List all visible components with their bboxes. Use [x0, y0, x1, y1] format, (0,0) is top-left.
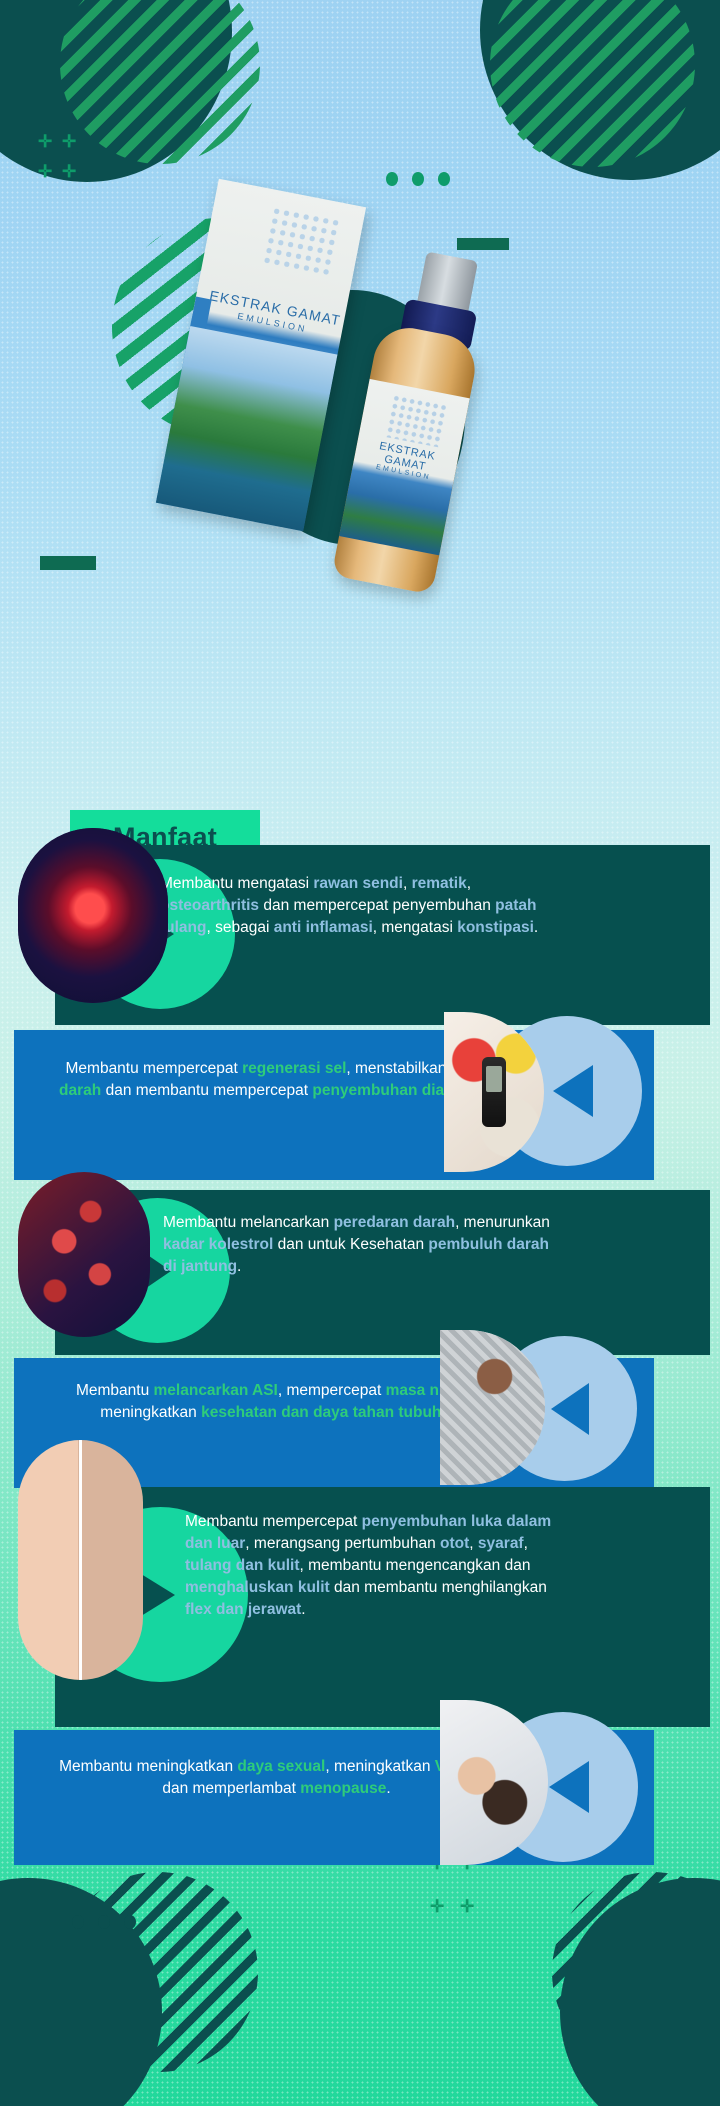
decor-plus-icon-3: ✛ [38, 163, 52, 180]
blood-vessel-cells-photo [18, 1172, 150, 1337]
benefit-card-2-text: Membantu mempercepat regenerasi sel, men… [54, 1058, 494, 1102]
decor-plus-icon-7: ✛ [430, 1898, 444, 1915]
photo-art [18, 828, 168, 1003]
highlight-text: menopause [300, 1780, 386, 1797]
decor-dots-bottom-left [72, 1915, 136, 1929]
highlight-text: kesehatan dan daya tahan tubuh [201, 1404, 441, 1421]
highlight-text: peredaran darah [334, 1214, 455, 1231]
body-text: . [237, 1258, 241, 1275]
body-text: , meningkatkan [325, 1758, 434, 1775]
body-text: , mempercepat [278, 1382, 386, 1399]
highlight-text: menghaluskan kulit [185, 1579, 330, 1596]
highlight-text: anti inflamasi [274, 919, 373, 936]
couple-in-bed-photo [440, 1700, 548, 1865]
body-text: . [534, 919, 538, 936]
body-text: dan mempercepat penyembuhan [259, 897, 495, 914]
mother-breastfeeding-photo [440, 1330, 545, 1485]
body-text: Membantu mempercepat [66, 1060, 243, 1077]
benefit-card-4-text: Membantu melancarkan ASI, mempercepat ma… [48, 1380, 498, 1424]
decor-dot [72, 1915, 84, 1929]
decor-bar-left [40, 556, 96, 570]
decor-plus-icon-4: ✛ [62, 163, 76, 180]
benefit-card-6-text: Membantu meningkatkan daya sexual, menin… [54, 1756, 499, 1800]
knee-joint-xray-photo [18, 828, 168, 1003]
benefit-card-6[interactable]: Membantu meningkatkan daya sexual, menin… [14, 1730, 654, 1865]
benefit-card-1-text: Membantu mengatasi rawan sendi, rematik,… [160, 873, 555, 939]
box-dot-pattern [261, 205, 343, 278]
arrow-triangle [551, 1383, 589, 1435]
body-text: . [301, 1601, 305, 1618]
benefit-card-5-text: Membantu mempercepat penyembuhan luka da… [185, 1511, 565, 1621]
bottle-body: EKSTRAK GAMAT EMULSION [331, 322, 480, 595]
body-text: , menstabilkan [346, 1060, 450, 1077]
body-text: , [469, 1535, 478, 1552]
photo-art [444, 1012, 544, 1172]
arrow-triangle [549, 1761, 589, 1813]
body-text: Membantu mengatasi [160, 875, 313, 892]
photo-art [440, 1330, 545, 1485]
body-text: , merangsang pertumbuhan [245, 1535, 440, 1552]
highlight-text: flex dan jerawat [185, 1601, 301, 1618]
face-divider-line [79, 1440, 82, 1680]
decor-plus-icon-1: ✛ [38, 133, 52, 150]
highlight-text: rawan sendi [313, 875, 403, 892]
highlight-text: rematik [412, 875, 467, 892]
body-text: . [386, 1780, 390, 1797]
product-bottle: EKSTRAK GAMAT EMULSION [324, 250, 503, 596]
body-text: Membantu [76, 1382, 154, 1399]
benefit-card-5[interactable]: Membantu mempercepat penyembuhan luka da… [55, 1487, 710, 1727]
decor-bottom-left-stripes [58, 1872, 258, 2072]
label-dot-pattern [385, 394, 448, 448]
highlight-text: syaraf [478, 1535, 524, 1552]
highlight-text: tulang dan kulit [185, 1557, 300, 1574]
body-text: dan memperlambat [162, 1780, 300, 1797]
product-image: EKSTRAK GAMAT EMULSION EKSTRAK GAMAT EMU… [176, 180, 526, 600]
highlight-text: daya sexual [237, 1758, 325, 1775]
benefit-card-3[interactable]: Membantu melancarkan peredaran darah, me… [55, 1190, 710, 1355]
decor-plus-icon-8: ✛ [460, 1898, 474, 1915]
body-text: dan untuk Kesehatan [273, 1236, 428, 1253]
photo-art [18, 1172, 150, 1337]
glucometer-screen [486, 1066, 502, 1092]
body-text: Membantu melancarkan [163, 1214, 334, 1231]
body-text: , menurunkan [455, 1214, 550, 1231]
decor-dot [98, 1915, 110, 1929]
body-text: , [403, 875, 412, 892]
bottle-label: EKSTRAK GAMAT EMULSION [339, 379, 470, 556]
highlight-text: konstipasi [457, 919, 534, 936]
highlight-text: kadar kolestrol [163, 1236, 273, 1253]
highlight-text: otot [440, 1535, 469, 1552]
highlight-text: osteoarthritis [160, 897, 259, 914]
highlight-text: regenerasi sel [242, 1060, 346, 1077]
body-text: , [524, 1535, 528, 1552]
product-box: EKSTRAK GAMAT EMULSION [156, 179, 366, 532]
body-text: dan membantu menghilangkan [330, 1579, 547, 1596]
benefit-card-2[interactable]: Membantu mempercepat regenerasi sel, men… [14, 1030, 654, 1180]
body-text: dan membantu mempercepat [101, 1082, 312, 1099]
body-text: , sebagai [207, 919, 274, 936]
body-text: , membantu mengencangkan dan [300, 1557, 531, 1574]
bottle-label-title: EKSTRAK GAMAT EMULSION [353, 436, 459, 486]
photo-art [440, 1700, 548, 1865]
body-text: , [467, 875, 471, 892]
highlight-text: melancarkan ASI [154, 1382, 278, 1399]
body-text: Membantu mempercepat [185, 1513, 362, 1530]
glucometer-blood-sugar-photo [444, 1012, 544, 1172]
box-coral-scene [156, 326, 338, 531]
arrow-triangle [553, 1065, 593, 1117]
benefit-card-3-text: Membantu melancarkan peredaran darah, me… [163, 1212, 563, 1278]
decor-dot [124, 1915, 136, 1929]
body-text: Membantu meningkatkan [59, 1758, 237, 1775]
face-skin-aging-comparison-photo [18, 1440, 143, 1680]
photo-art [18, 1440, 143, 1680]
decor-plus-icon-2: ✛ [62, 133, 76, 150]
infographic-poster: ✛ ✛ ✛ ✛ EKSTRAK GAMAT EMULSION [0, 0, 720, 2106]
body-text: , mengatasi [373, 919, 457, 936]
